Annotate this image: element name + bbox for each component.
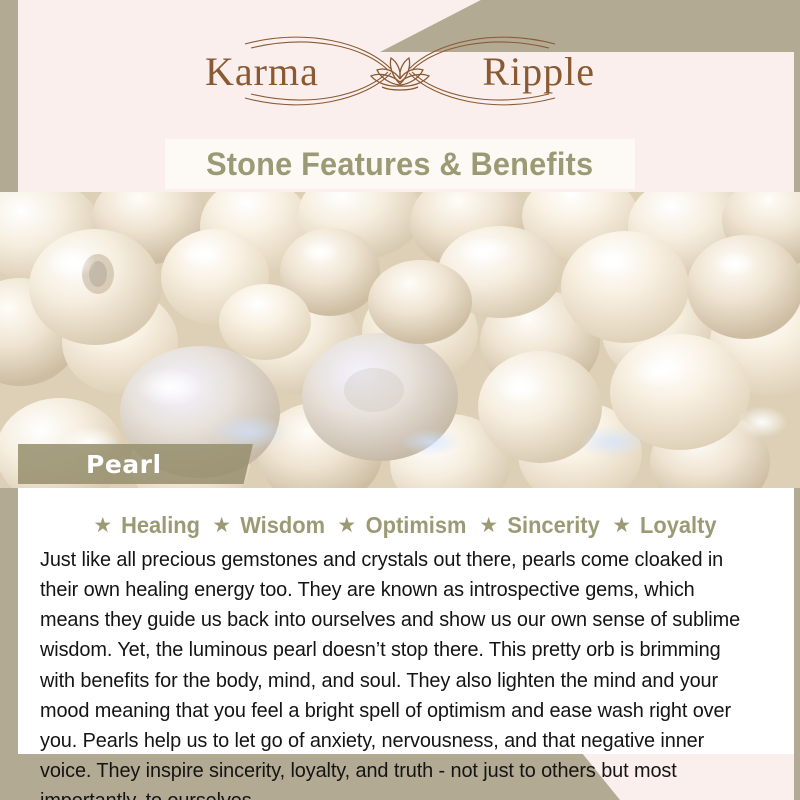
keyword-item-sincerity: ★ Sincerity (479, 512, 602, 539)
keyword-label: Wisdom (240, 512, 325, 539)
keyword-item-loyalty: ★ Loyalty (612, 512, 718, 539)
brand-word-second: Ripple (476, 48, 601, 95)
stone-photo: Pearl (0, 192, 800, 488)
star-icon: ★ (612, 515, 631, 536)
keyword-label: Optimism (366, 512, 467, 539)
keyword-list: ★ Healing ★ Wisdom ★ Optimism ★ Sincerit… (36, 512, 776, 539)
star-icon: ★ (479, 515, 498, 536)
keyword-label: Healing (121, 512, 200, 539)
page-title: Stone Features & Benefits (206, 146, 593, 183)
keyword-label: Loyalty (640, 512, 717, 539)
star-icon: ★ (93, 515, 112, 536)
brand-word-first: Karma (199, 48, 325, 95)
stone-name-label: Pearl (86, 450, 162, 479)
keyword-label: Sincerity (508, 512, 600, 539)
infographic-page: Karma Ripple Stone Features & Benefits (0, 0, 800, 800)
keyword-item-healing: ★ Healing (93, 512, 202, 539)
page-title-band: Stone Features & Benefits (165, 139, 635, 189)
pearls-image (0, 192, 800, 488)
star-icon: ★ (337, 515, 356, 536)
star-icon: ★ (212, 515, 231, 536)
stone-name-banner: Pearl (18, 444, 253, 484)
keyword-item-optimism: ★ Optimism (337, 512, 469, 539)
keyword-item-wisdom: ★ Wisdom (212, 512, 327, 539)
description-paragraph: Just like all precious gemstones and cry… (40, 545, 752, 800)
brand-logo: Karma Ripple (0, 32, 800, 110)
content-panel: ★ Healing ★ Wisdom ★ Optimism ★ Sincerit… (18, 488, 794, 754)
